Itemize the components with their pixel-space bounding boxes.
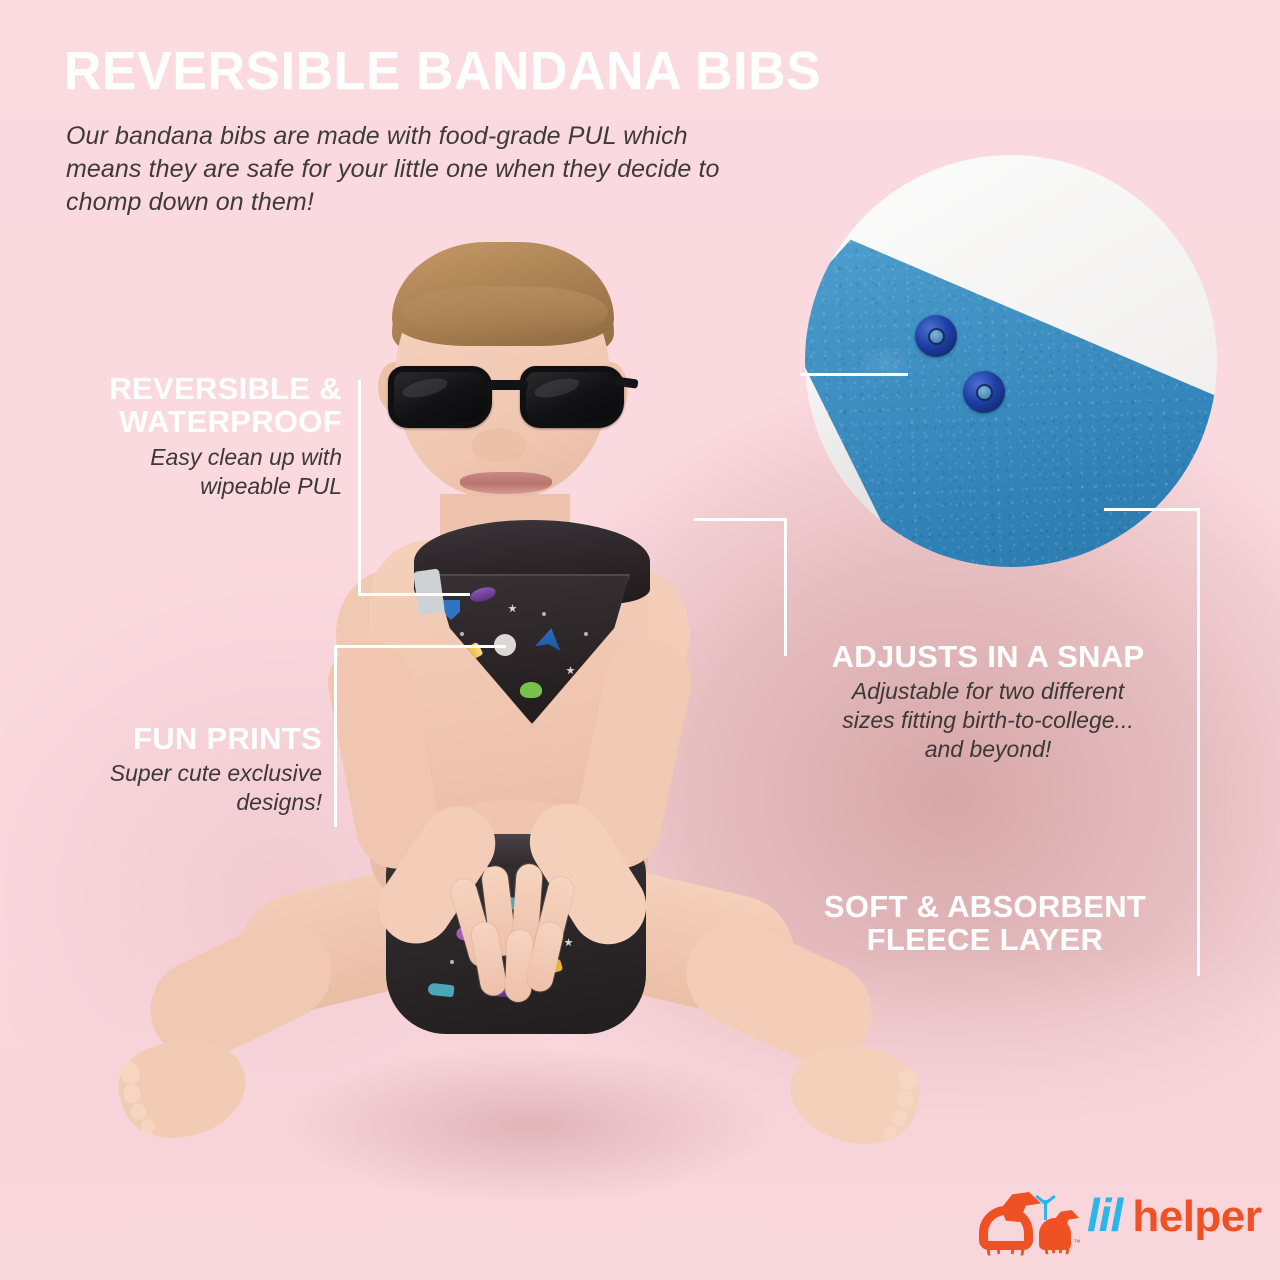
bib-stitch-edge	[434, 574, 630, 724]
page-subtitle: Our bandana bibs are made with food-grad…	[66, 120, 766, 219]
feature-body: Super cute exclusive designs!	[20, 759, 322, 817]
feature-body-line1: Super cute exclusive	[110, 760, 322, 786]
feature-body-line1: Adjustable for two different	[852, 678, 1124, 704]
feature-body-line2: designs!	[236, 789, 322, 815]
connector-inset-snap-pointer	[800, 373, 908, 376]
inset-photo-fleece-snaps	[805, 155, 1217, 567]
feature-heading-line2: WATERPROOF	[119, 404, 342, 439]
feature-body: Adjustable for two different sizes fitti…	[792, 677, 1184, 763]
brand-logo[interactable]: lilhelper ™	[975, 1188, 1220, 1260]
connector-funprints-vertical	[334, 645, 337, 827]
feature-heading: SOFT & ABSORBENT FLEECE LAYER	[780, 890, 1190, 957]
baby-clasped-hands	[456, 860, 576, 1010]
sunglasses	[388, 362, 624, 434]
connector-funprints-horizontal	[334, 645, 506, 648]
feature-body-line3: and beyond!	[925, 736, 1052, 762]
baby-hair-front	[392, 242, 614, 346]
feature-soft-absorbent-fleece: SOFT & ABSORBENT FLEECE LAYER	[780, 890, 1190, 957]
connector-soft-vertical	[1197, 508, 1200, 976]
connector-reversible-vertical	[358, 380, 361, 596]
feature-fun-prints: FUN PRINTS Super cute exclusive designs!	[20, 722, 322, 817]
snap-button-lower	[963, 371, 1005, 413]
baby-mouth	[460, 472, 552, 494]
feature-body-line2: wipeable PUL	[200, 473, 342, 499]
feature-heading-line1: ADJUSTS IN A SNAP	[832, 639, 1145, 674]
connector-soft-horizontal	[1104, 508, 1200, 511]
trademark-symbol: ™	[1073, 1238, 1081, 1247]
feature-heading-line1: REVERSIBLE &	[109, 371, 342, 406]
big-bird-icon	[975, 1192, 1041, 1250]
snap-button-upper	[915, 315, 957, 357]
feature-body: Easy clean up with wipeable PUL	[20, 443, 342, 501]
connector-snap-horizontal	[694, 518, 786, 521]
sunglasses-bridge	[488, 380, 528, 390]
feature-heading: FUN PRINTS	[20, 722, 322, 755]
feature-heading-line1: SOFT & ABSORBENT	[824, 889, 1146, 924]
feature-reversible-waterproof: REVERSIBLE & WATERPROOF Easy clean up wi…	[20, 372, 342, 500]
feature-body-line1: Easy clean up with	[150, 444, 342, 470]
page-title: REVERSIBLE BANDANA BIBS	[64, 44, 821, 99]
logo-word-helper: helper	[1132, 1192, 1261, 1241]
bandana-bib-worn	[398, 520, 666, 730]
connector-snap-vertical	[784, 518, 787, 656]
connector-reversible-horizontal	[358, 593, 470, 596]
sunglasses-left-lens	[388, 366, 492, 428]
feature-heading-line1: FUN PRINTS	[133, 721, 322, 756]
logo-wordmark: lilhelper	[1087, 1192, 1261, 1239]
logo-word-lil: lil	[1087, 1189, 1122, 1241]
feature-heading: ADJUSTS IN A SNAP	[792, 640, 1184, 673]
feature-adjusts-in-a-snap: ADJUSTS IN A SNAP Adjustable for two dif…	[792, 640, 1184, 764]
feature-heading-line2: FLEECE LAYER	[867, 922, 1104, 957]
infographic-canvas: REVERSIBLE BANDANA BIBS Our bandana bibs…	[0, 0, 1280, 1280]
feature-heading: REVERSIBLE & WATERPROOF	[20, 372, 342, 439]
feature-body-line2: sizes fitting birth-to-college...	[842, 707, 1133, 733]
sunglasses-right-lens	[520, 366, 624, 428]
